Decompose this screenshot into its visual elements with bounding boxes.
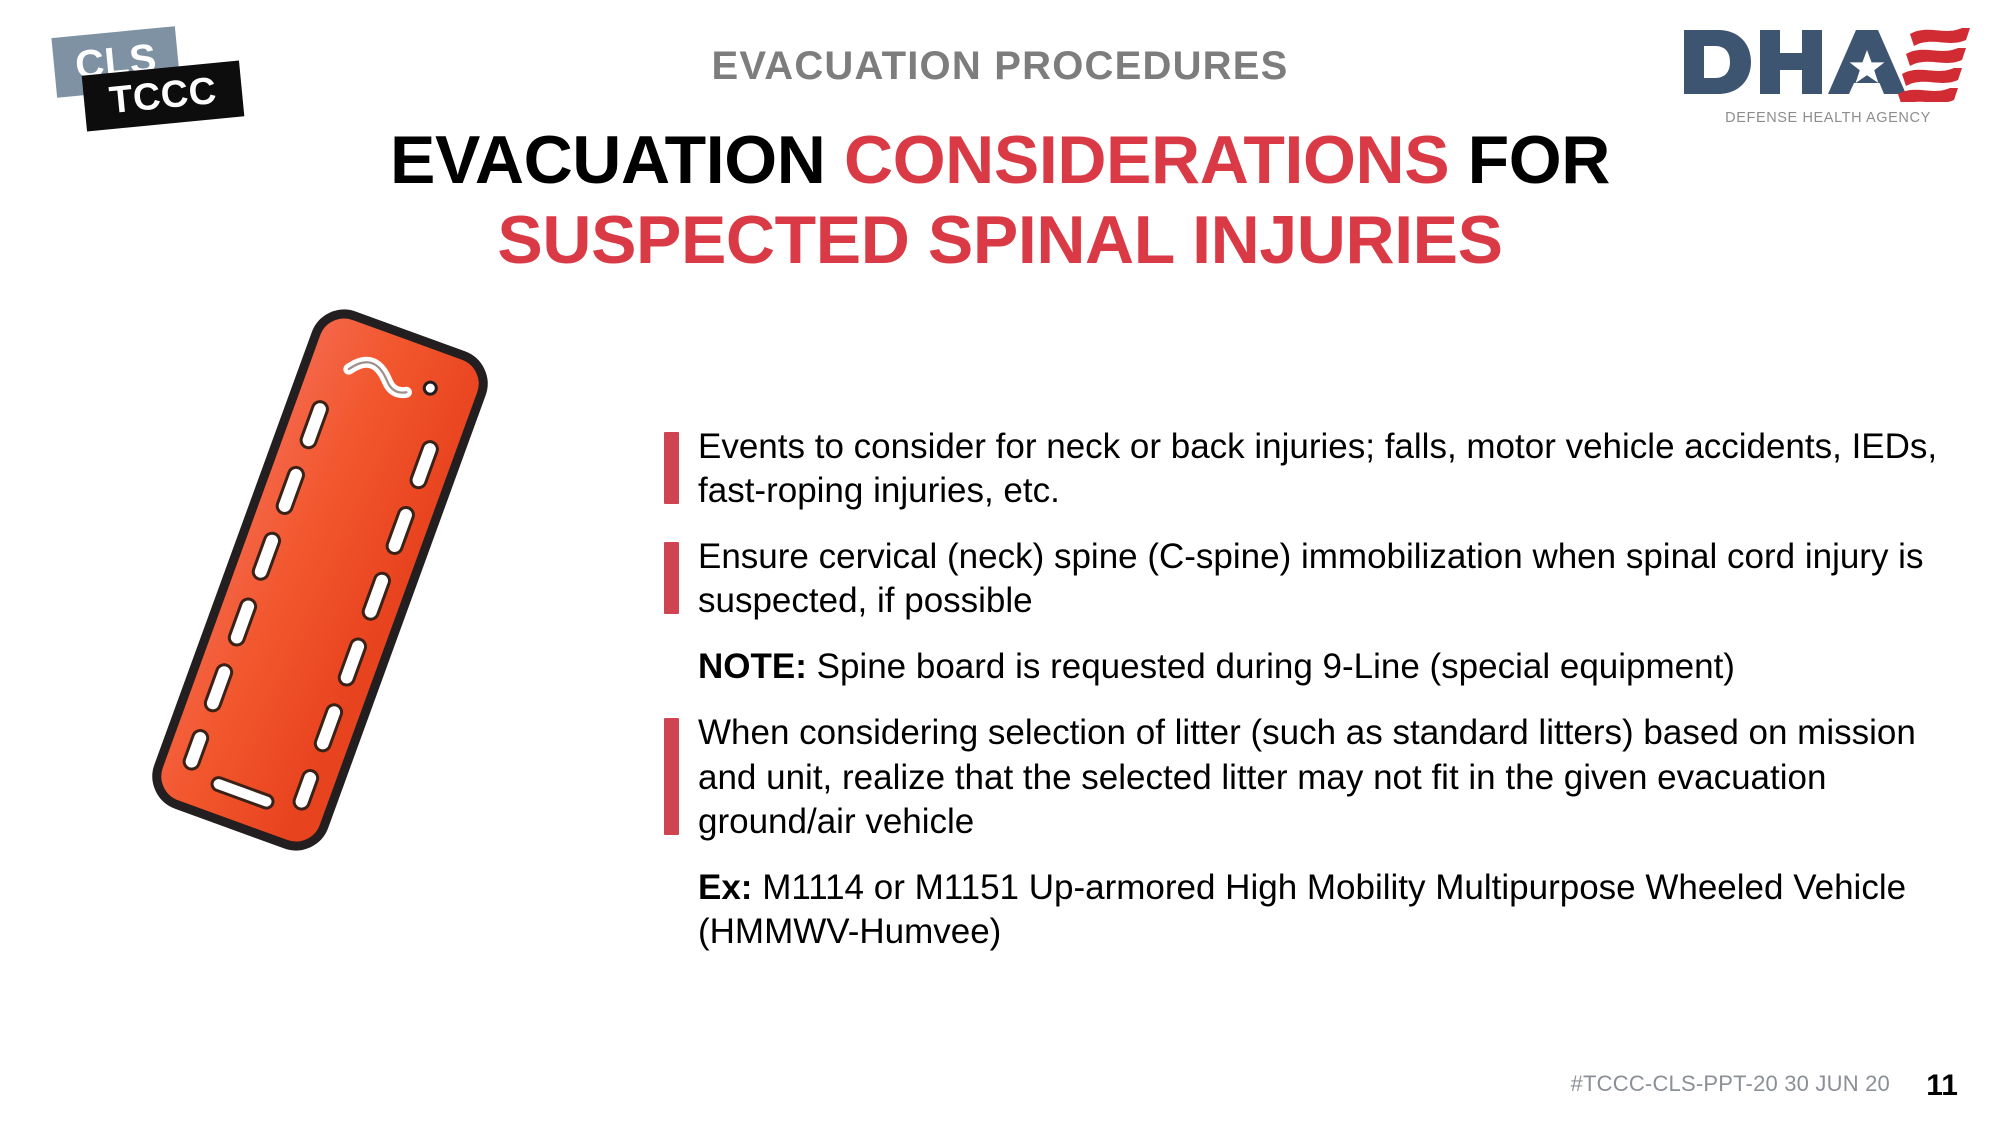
content-list: Events to consider for neck or back inju… <box>650 425 1940 976</box>
bullet-text: When considering selection of litter (su… <box>698 711 1940 843</box>
bullet-item-1: Events to consider for neck or back inju… <box>650 425 1940 513</box>
note-label: NOTE: <box>698 647 807 686</box>
spine-board-illustration <box>120 300 520 860</box>
bullet-marker <box>664 718 679 834</box>
title-line-2: SUSPECTED SPINAL INJURIES <box>497 202 1502 278</box>
example-text: Ex: M1114 or M1151 Up-armored High Mobil… <box>698 866 1940 954</box>
bullet-text: Events to consider for neck or back inju… <box>698 425 1940 513</box>
note-item: NOTE: Spine board is requested during 9-… <box>650 645 1940 689</box>
bullet-marker <box>664 542 679 614</box>
page-number: 11 <box>1926 1069 1958 1103</box>
slide-canvas: CLS TCCC DEFENSE HEALTH AGENCY EVACUATIO… <box>0 0 2000 1125</box>
title-segment-2: CONSIDERATIONS <box>844 122 1449 198</box>
slide-eyebrow: EVACUATION PROCEDURES <box>0 44 2000 89</box>
example-body: M1114 or M1151 Up-armored High Mobility … <box>698 868 1906 951</box>
bullet-text: Ensure cervical (neck) spine (C-spine) i… <box>698 535 1940 623</box>
spine-board-icon <box>120 300 520 860</box>
bullet-item-3: When considering selection of litter (su… <box>650 711 1940 843</box>
note-body: Spine board is requested during 9-Line (… <box>807 647 1735 686</box>
bullet-item-2: Ensure cervical (neck) spine (C-spine) i… <box>650 535 1940 623</box>
page-title: EVACUATION CONSIDERATIONS FOR SUSPECTED … <box>120 120 1880 280</box>
footer-document-code: #TCCC-CLS-PPT-20 30 JUN 20 <box>1571 1071 1890 1097</box>
title-segment-1: EVACUATION <box>390 122 844 198</box>
bullet-marker <box>664 432 679 504</box>
note-text: NOTE: Spine board is requested during 9-… <box>698 645 1940 689</box>
title-segment-3: FOR <box>1449 122 1610 198</box>
example-label: Ex: <box>698 868 752 907</box>
example-item: Ex: M1114 or M1151 Up-armored High Mobil… <box>650 866 1940 954</box>
